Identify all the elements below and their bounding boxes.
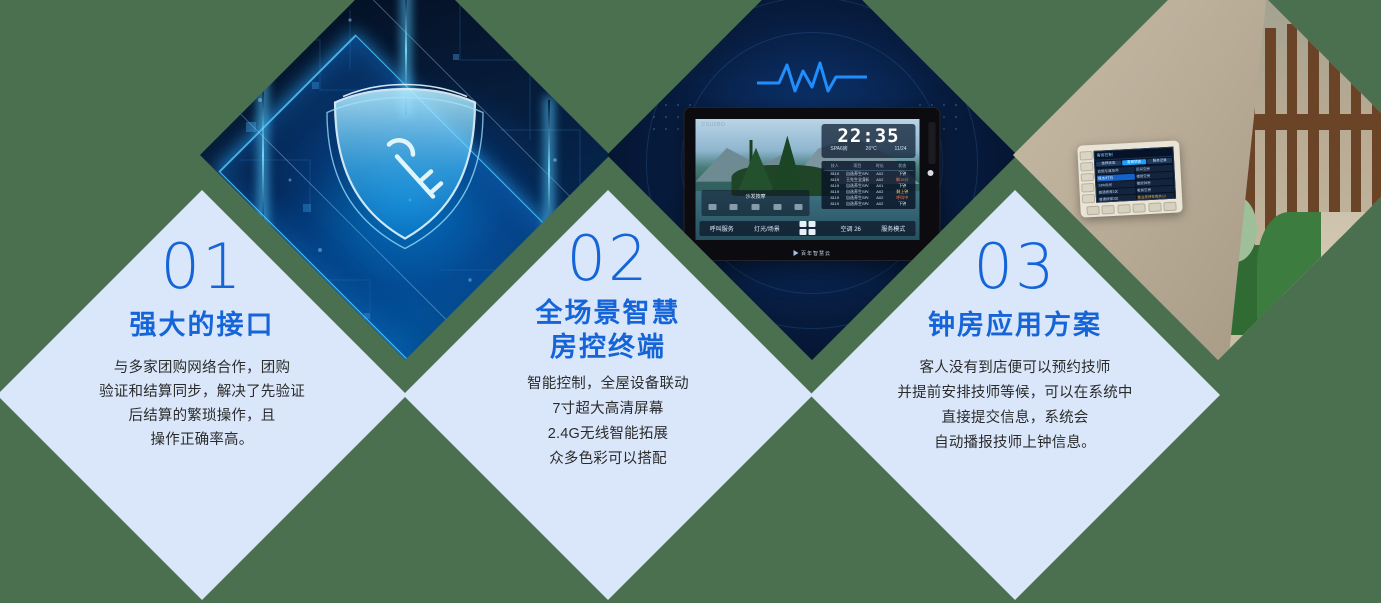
tablet-screen: CSUZBO 22:35 SPA6房 26°C 11/24 技人 项目 [696, 119, 920, 240]
card-1-title: 强大的接口 [52, 308, 352, 342]
wall-control-panel[interactable]: 客房控制 技师状态 客房状态 服务记录 会馆专属技师区间空房保洁/打扫楼层空房S… [1077, 140, 1183, 217]
panel-btn-1 [1080, 161, 1093, 170]
tablet-device: CSUZBO 22:35 SPA6房 26°C 11/24 技人 项目 [684, 107, 941, 261]
shield-lock-icon [305, 71, 505, 256]
list-item[interactable]: 营业技师在岗共12 [1136, 192, 1174, 200]
card-2-title: 全场景智慧 房控终端 [458, 296, 758, 364]
clock-room: SPA6房 [830, 146, 847, 153]
action-aircon[interactable]: 空调 26 [841, 224, 861, 233]
technician-status-table: 技人 项目 时长 状态 8119自选养生SPAA02下钟8119王先生全身精护A… [822, 161, 916, 209]
card-2-description: 智能控制，全屋设备联动 7寸超大高清屏幕 2.4G无线智能拓展 众多色彩可以搭配 [458, 372, 758, 472]
panel-bottom-buttons[interactable] [1086, 201, 1176, 215]
prev-icon[interactable] [708, 204, 716, 210]
light-beam [548, 100, 550, 240]
panel-side-buttons[interactable] [1079, 151, 1095, 204]
action-call-service[interactable]: 呼叫服务 [710, 224, 734, 233]
clock-temperature: 26°C [866, 146, 877, 153]
panel-btn-4 [1081, 194, 1094, 203]
list-icon[interactable] [795, 204, 803, 210]
clock-widget: 22:35 SPA6房 26°C 11/24 [822, 124, 916, 158]
tablet-brand-label: CSUZBO [702, 122, 726, 128]
camera-icon [928, 170, 934, 176]
panel-btn-0 [1079, 151, 1092, 160]
clock-date: 11/24 [894, 146, 906, 153]
action-service-mode[interactable]: 服务模式 [881, 224, 905, 233]
action-lighting[interactable]: 灯光/场景 [754, 224, 780, 233]
tablet-side-strip [929, 122, 936, 164]
panel-screen: 客房控制 技师状态 客房状态 服务记录 会馆专属技师区间空房保洁/打扫楼层空房S… [1093, 146, 1176, 202]
panel-item-list[interactable]: 会馆专属技师区间空房保洁/打扫楼层空房SPA包间楼层钟房普通按摩1区客房空房普通… [1095, 163, 1175, 202]
panel-tab-0[interactable]: 技师状态 [1096, 160, 1121, 166]
media-player-widget[interactable]: 沙发按摩 [702, 190, 810, 216]
panel-tab-2[interactable]: 服务记录 [1147, 157, 1172, 163]
list-item[interactable]: 普通按摩2区 [1097, 194, 1135, 202]
card-1-description: 与多家团购网络合作，团购 验证和结算同步，解决了先验证 后结算的繁琐操作，且 操… [52, 356, 352, 452]
panel-btn-2 [1080, 172, 1093, 181]
card-3-title: 钟房应用方案 [865, 308, 1165, 342]
light-beam [262, 80, 264, 230]
next-icon[interactable] [751, 204, 759, 210]
table-header-row: 技人 项目 时长 状态 [824, 163, 914, 171]
card-3-description: 客人没有到店便可以预约技师 并提前安排技师等候，可以在系统中 直接提交信息，系统… [865, 356, 1165, 456]
volume-icon[interactable] [773, 204, 781, 210]
app-grid-icon[interactable] [800, 221, 816, 235]
panel-tab-1[interactable]: 客房状态 [1121, 159, 1146, 165]
logo-mark-icon [793, 250, 798, 256]
panel-btn-3 [1081, 183, 1094, 192]
promo-banner: 01 强大的接口 与多家团购网络合作，团购 验证和结算同步，解决了先验证 后结算… [0, 0, 1381, 603]
play-icon[interactable] [730, 204, 738, 210]
clock-time: 22:35 [822, 124, 916, 146]
table-row: 8119自选养生SPAA02下钟 [824, 201, 914, 207]
heartbeat-pulse-icon [757, 57, 867, 99]
player-controls[interactable] [702, 204, 810, 210]
player-label: 沙发按摩 [702, 193, 810, 200]
tablet-logo: 百年智慧云 [793, 250, 831, 257]
